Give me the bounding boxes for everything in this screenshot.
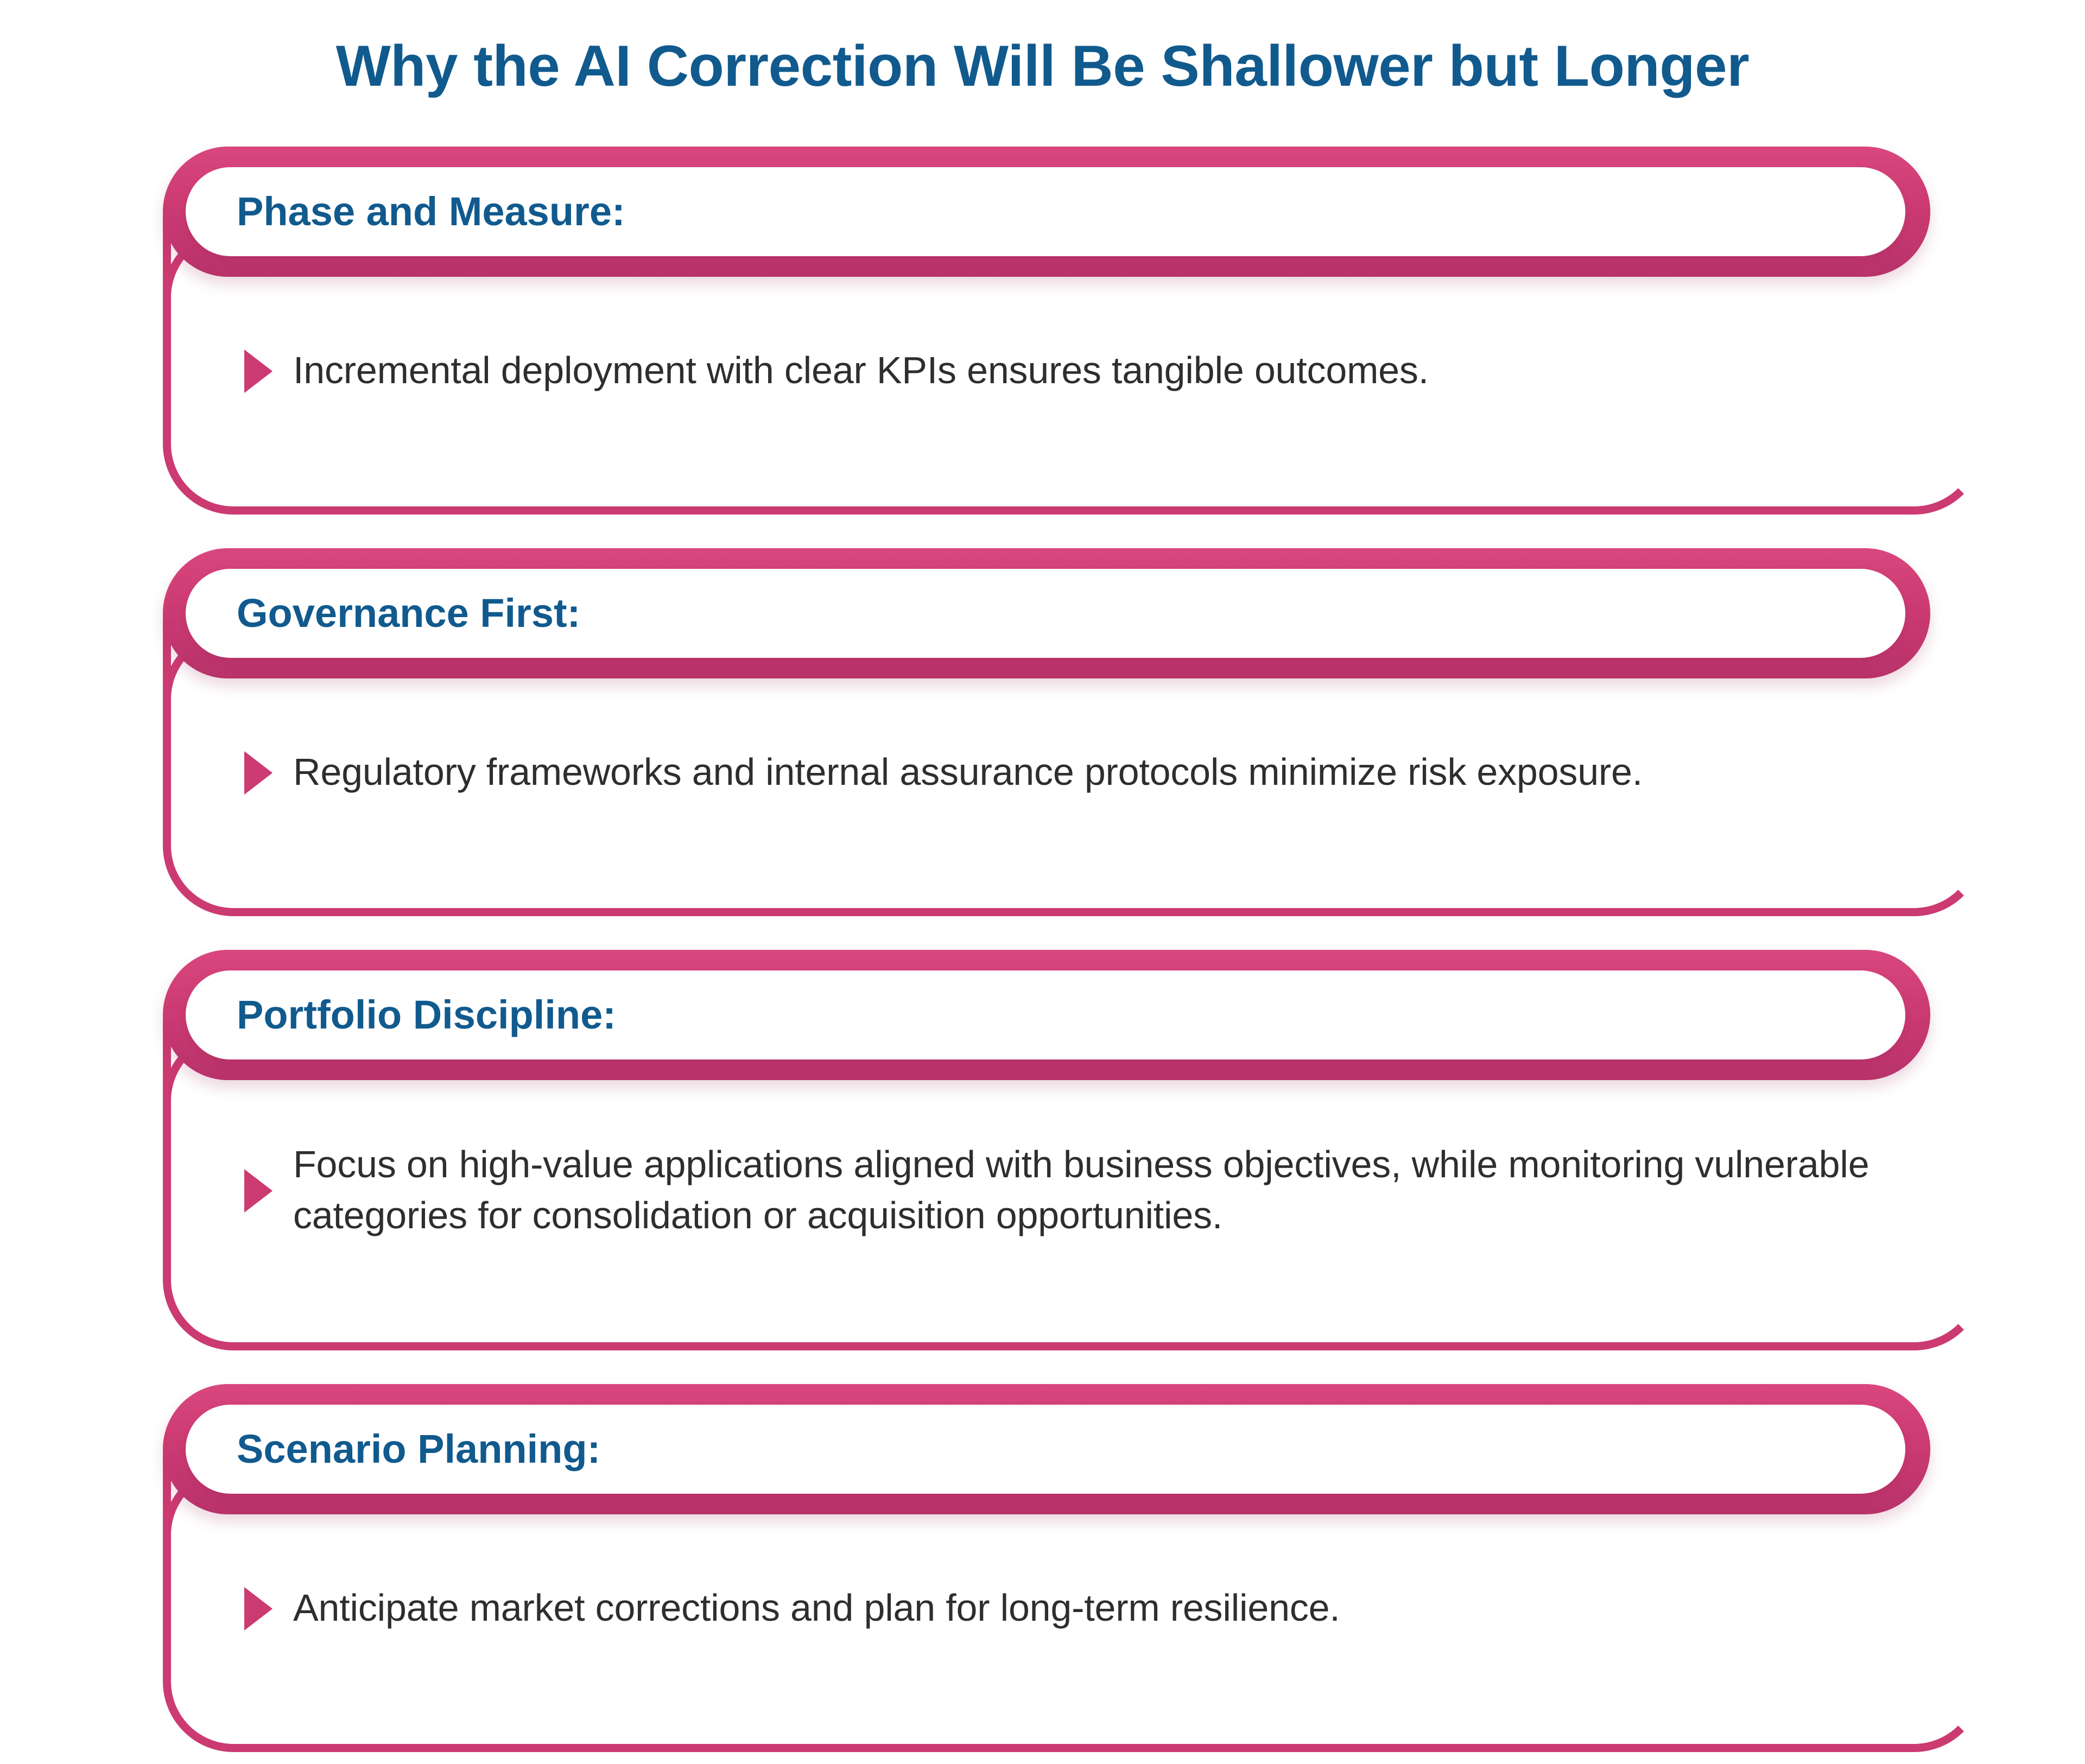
card-list: Incremental deployment with clear KPIs e… (0, 147, 2085, 1764)
list-item: Anticipate market corrections and plan f… (0, 1384, 2085, 1764)
triangle-right-icon (244, 350, 272, 393)
triangle-right-icon (244, 1169, 272, 1213)
card-header-inner: Portfolio Discipline: (186, 970, 1905, 1059)
card-header-governance-first[interactable]: Governance First: (163, 548, 1930, 678)
triangle-right-icon (244, 1587, 272, 1630)
card-header-scenario-planning[interactable]: Scenario Planning: (163, 1384, 1930, 1514)
card-heading-label: Governance First: (237, 591, 580, 635)
list-item: Focus on high-value applications aligned… (0, 950, 2085, 1362)
card-body-text: Anticipate market corrections and plan f… (293, 1583, 1340, 1634)
card-heading-label: Scenario Planning: (237, 1427, 600, 1471)
card-heading-label: Phase and Measure: (237, 189, 625, 233)
card-header-portfolio-discipline[interactable]: Portfolio Discipline: (163, 950, 1930, 1080)
page-title: Why the AI Correction Will Be Shallower … (0, 31, 2085, 100)
list-item: Incremental deployment with clear KPIs e… (0, 147, 2085, 526)
card-header-phase-and-measure[interactable]: Phase and Measure: (163, 147, 1930, 277)
triangle-right-icon (244, 751, 272, 795)
card-header-inner: Phase and Measure: (186, 167, 1905, 256)
list-item: Regulatory frameworks and internal assur… (0, 548, 2085, 928)
card-heading-label: Portfolio Discipline: (237, 993, 616, 1037)
card-header-inner: Governance First: (186, 569, 1905, 658)
card-body-text: Regulatory frameworks and internal assur… (293, 747, 1643, 798)
card-body-text: Incremental deployment with clear KPIs e… (293, 345, 1429, 396)
card-body-text: Focus on high-value applications aligned… (293, 1139, 1887, 1241)
card-header-inner: Scenario Planning: (186, 1405, 1905, 1494)
